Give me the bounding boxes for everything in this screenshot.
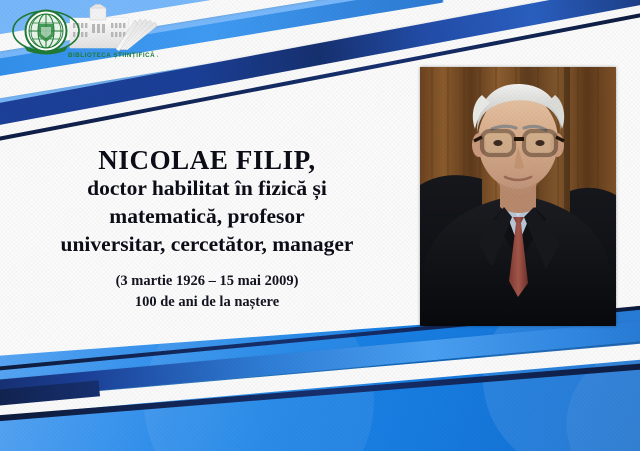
usarb-library-logo: BIBLIOTECA ȘTIINȚIFICĂ A USARB bbox=[8, 4, 158, 60]
title-line-3: matematică, profesor bbox=[8, 203, 406, 231]
portrait-photo bbox=[420, 67, 616, 326]
poster-canvas: BIBLIOTECA ȘTIINȚIFICĂ A USARB bbox=[0, 0, 640, 451]
title-line-4: universitar, cercetător, manager bbox=[8, 231, 406, 259]
title-line-2: doctor habilitat în fizică și bbox=[8, 175, 406, 203]
title-block: NICOLAE FILIP, doctor habilitat în fizic… bbox=[8, 145, 406, 313]
anniversary-text: 100 de ani de la naștere bbox=[8, 292, 406, 313]
globe-emblem-icon bbox=[13, 11, 79, 55]
logo-caption: BIBLIOTECA ȘTIINȚIFICĂ A USARB bbox=[68, 52, 158, 59]
page-title: NICOLAE FILIP, bbox=[8, 145, 406, 175]
life-dates: (3 martie 1926 – 15 mai 2009) bbox=[8, 271, 406, 292]
